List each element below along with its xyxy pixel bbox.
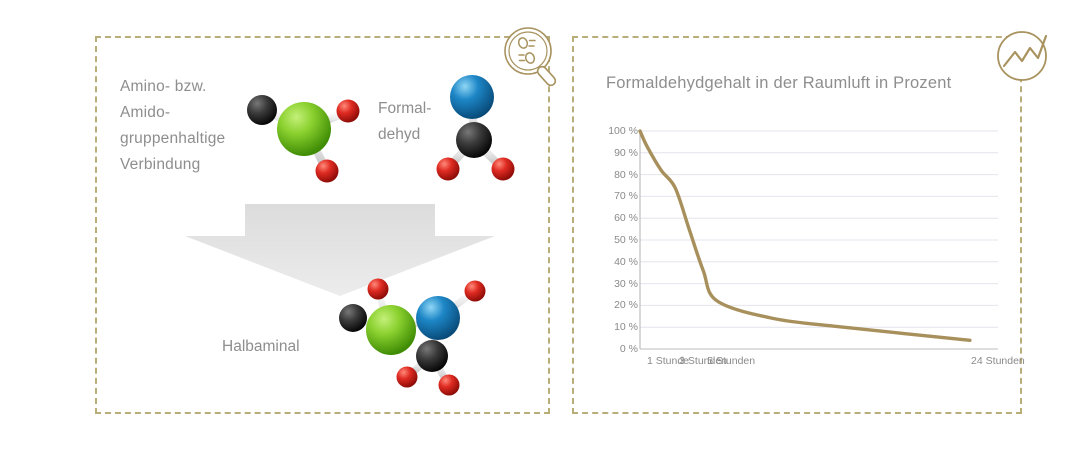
- y-tick-label: 40 %: [614, 256, 638, 268]
- trend-line-circle-icon: [988, 22, 1060, 94]
- y-tick-label: 30 %: [614, 278, 638, 290]
- y-tick-label: 80 %: [614, 169, 638, 181]
- y-tick-label: 50 %: [614, 234, 638, 246]
- series-line-formaldehydgehalt: [640, 131, 970, 340]
- hemiaminal-label: Halbaminal: [222, 338, 300, 356]
- y-tick-label: 70 %: [614, 190, 638, 202]
- y-tick-label: 0 %: [620, 343, 638, 355]
- y-tick-label: 100 %: [608, 125, 638, 137]
- hemiaminal-molecule: [328, 272, 508, 400]
- y-tick-label: 60 %: [614, 212, 638, 224]
- line-chart: 100 %90 %80 %70 %60 %50 %40 %30 %20 %10 …: [572, 100, 1022, 390]
- y-tick-label: 90 %: [614, 147, 638, 159]
- y-tick-label: 10 %: [614, 321, 638, 333]
- formaldehyde-molecule: [432, 68, 532, 190]
- chart-plot: [638, 100, 1010, 390]
- y-axis-tick-labels: 100 %90 %80 %70 %60 %50 %40 %30 %20 %10 …: [572, 100, 638, 390]
- amino-compound-molecule: [238, 76, 374, 192]
- chart-title: Formaldehydgehalt in der Raumluft in Pro…: [606, 74, 951, 93]
- y-tick-label: 20 %: [614, 299, 638, 311]
